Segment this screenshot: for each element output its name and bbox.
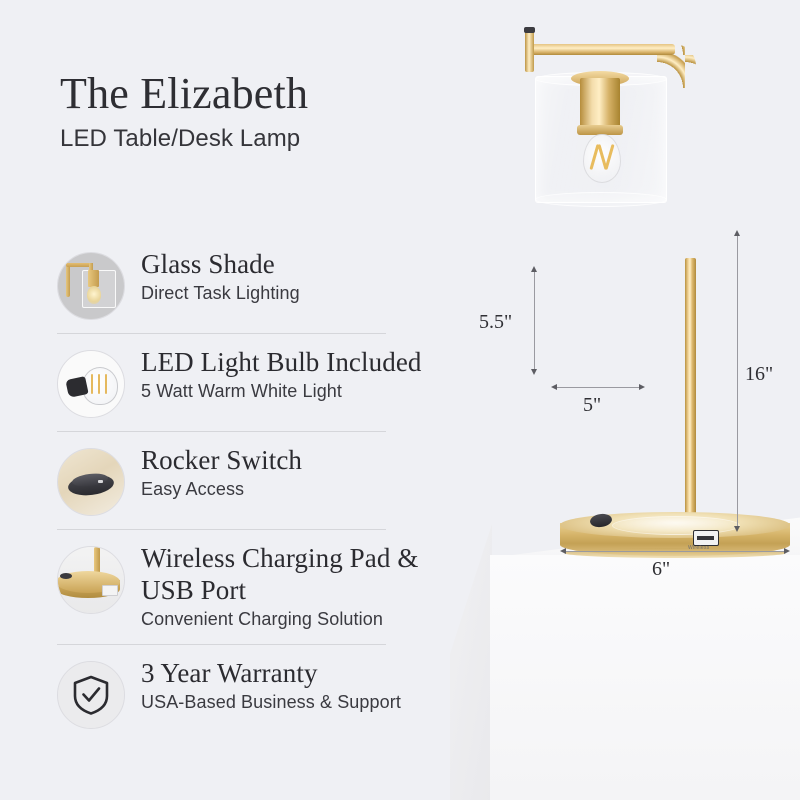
dimension-line-shade-width [557, 387, 639, 388]
feature-divider [57, 333, 386, 334]
feature-heading: Glass Shade [141, 248, 300, 280]
feature-divider [57, 431, 386, 432]
arrow-down-icon [734, 526, 740, 532]
feature-item-led-bulb: LED Light Bulb Included 5 Watt Warm Whit… [57, 346, 449, 418]
dimension-line-shade-height [534, 272, 535, 369]
bulb-socket [580, 78, 620, 130]
feature-subtext: Easy Access [141, 477, 302, 501]
feature-item-rocker-switch: Rocker Switch Easy Access [57, 444, 449, 516]
feature-item-wireless-charging: Wireless Charging Pad & USB Port Conveni… [57, 542, 449, 631]
base-lip [564, 548, 786, 558]
dimension-label-shade-height: 5.5" [479, 311, 512, 334]
page-subtitle: LED Table/Desk Lamp [60, 124, 300, 154]
lamp-stem-cap [524, 27, 535, 33]
lamp-arm-horizontal [525, 44, 675, 55]
rocker-switch-thumbnail-icon [57, 448, 125, 516]
lamp-head-thumbnail-icon [57, 252, 125, 320]
feature-heading: 3 Year Warranty [141, 657, 401, 689]
dimension-line-base-width [566, 551, 784, 552]
feature-heading: Wireless Charging Pad & USB Port [141, 542, 461, 606]
feature-subtext: Convenient Charging Solution [141, 607, 461, 631]
product-scene: Wireless 5.5" 5" 16" 6" [430, 0, 800, 800]
arrow-left-icon [551, 384, 557, 390]
feature-subtext: Direct Task Lighting [141, 281, 300, 305]
arrow-down-icon [531, 369, 537, 375]
dimension-line-lamp-height [737, 236, 738, 526]
product-infographic: Wireless 5.5" 5" 16" 6" The Elizabeth LE… [0, 0, 800, 800]
table-lamp: Wireless [430, 0, 800, 560]
arrow-left-icon [560, 548, 566, 554]
feature-divider [57, 644, 386, 645]
glass-shade-bottom-rim [535, 192, 667, 207]
lamp-stem [525, 30, 534, 72]
feature-subtext: USA-Based Business & Support [141, 690, 401, 714]
page-title: The Elizabeth [60, 68, 308, 120]
feature-list: Glass Shade Direct Task Lighting LED Lig… [57, 248, 449, 729]
arrow-up-icon [531, 266, 537, 272]
led-bulb-thumbnail-icon [57, 350, 125, 418]
arrow-up-icon [734, 230, 740, 236]
lamp-base: Wireless [560, 512, 790, 556]
charging-pad-thumbnail-icon [57, 546, 125, 614]
feature-item-glass-shade: Glass Shade Direct Task Lighting [57, 248, 449, 320]
dimension-label-base-width: 6" [652, 558, 670, 581]
feature-heading: LED Light Bulb Included [141, 346, 422, 378]
dimension-label-lamp-height: 16" [745, 363, 773, 386]
feature-item-warranty: 3 Year Warranty USA-Based Business & Sup… [57, 657, 449, 729]
usb-port [693, 530, 719, 546]
dimension-label-shade-width: 5" [583, 394, 601, 417]
arrow-right-icon [784, 548, 790, 554]
lamp-pole [685, 258, 696, 526]
shield-check-icon [57, 661, 125, 729]
feature-subtext: 5 Watt Warm White Light [141, 379, 422, 403]
wireless-charging-pad [612, 516, 740, 535]
pedestal-front-face [490, 555, 800, 800]
feature-divider [57, 529, 386, 530]
arrow-right-icon [639, 384, 645, 390]
feature-heading: Rocker Switch [141, 444, 302, 476]
